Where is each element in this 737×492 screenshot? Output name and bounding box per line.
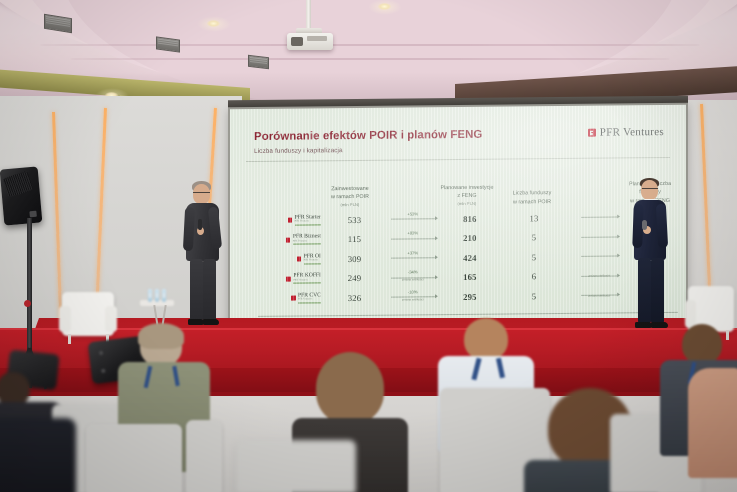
audience-chair: [86, 424, 182, 492]
comparison-table: Zainwestowane w ramach POIR (mln PLN) Pl…: [244, 165, 674, 327]
presenter-left-shoe: [188, 319, 204, 325]
header-planned-feng: Planowane inwestycje z FENG (mln PLN): [440, 184, 494, 209]
speaker-stand-pole: [27, 218, 32, 368]
cell-delta-capital: -34% zmiana wielkości: [382, 270, 443, 285]
pfr-square-mark-icon: [286, 277, 291, 282]
cell-funds-poir: 5: [497, 232, 572, 243]
cell-delta-funds: [571, 249, 626, 264]
pfr-square-mark-icon: [286, 238, 291, 243]
slide: Porównanie efektów POIR i planów FENG Li…: [230, 105, 686, 327]
projector-lens: [291, 37, 303, 46]
cell-delta-capital: +83%: [382, 231, 443, 246]
speaker-badge: [29, 211, 36, 218]
cell-delta-funds: [571, 210, 626, 225]
microphone: [198, 219, 202, 230]
cove-seam: [70, 58, 670, 60]
presenter-right-shoe: [651, 322, 668, 328]
cell-funds-poir: 5: [497, 291, 572, 302]
pfr-square-mark-icon: [291, 296, 296, 301]
cell-planned-feng: 816: [443, 213, 496, 224]
pa-speaker: [0, 166, 42, 225]
armchair-left: [62, 292, 114, 336]
audience-chair: [186, 420, 222, 492]
cell-delta-funds: zmiana wielkości: [571, 288, 626, 303]
presenter-left-leg: [190, 259, 203, 321]
projection-screen: Porównanie efektów POIR i planów FENG Li…: [230, 105, 686, 327]
cell-invested-poir: 249: [327, 273, 382, 284]
slide-title: Porównanie efektów POIR i planów FENG: [254, 129, 482, 143]
cell-delta-funds: [571, 230, 626, 245]
fund-logo: PFR StarterPFR Ventures: [244, 215, 327, 226]
ceiling-downlight: [207, 20, 220, 27]
glasses-icon: [193, 192, 210, 195]
cell-funds-poir: 5: [497, 252, 572, 263]
water-bottle: [148, 289, 152, 302]
fund-logo: PFR BiznestPFR Ventures: [244, 235, 327, 246]
armchair-leg: [68, 334, 71, 344]
ceiling-downlight: [378, 3, 391, 10]
table-header-row: Zainwestowane w ramach POIR (mln PLN) Pl…: [244, 165, 674, 211]
microphone: [642, 220, 647, 230]
ceiling-projector: [287, 33, 333, 50]
cell-invested-poir: 309: [327, 253, 382, 264]
armchair-leg: [726, 330, 729, 340]
presenter-right-shoe: [635, 322, 652, 328]
pfr-square-mark-icon: [288, 218, 293, 223]
presenter-left-leg: [203, 259, 216, 321]
cell-planned-feng: 165: [443, 272, 496, 283]
cell-funds-poir: 6: [497, 271, 572, 282]
pfr-square-mark-icon: [297, 257, 302, 262]
presenter-right-leg: [651, 258, 664, 324]
presenter-right-leg: [638, 258, 651, 324]
speaker-stand-knob: [24, 300, 31, 307]
pfr-ventures-wordmark: PFR Ventures: [600, 126, 664, 139]
cell-invested-poir: 533: [327, 214, 382, 225]
presenter-left-shoe: [203, 319, 219, 325]
cell-delta-funds: zmiana wielkości: [571, 269, 626, 284]
cove-seam: [40, 44, 700, 46]
cell-planned-feng: 295: [443, 291, 496, 302]
conference-photo-scene: Porównanie efektów POIR i planów FENG Li…: [0, 0, 737, 492]
cell-delta-capital: +53%: [382, 212, 443, 227]
water-bottle: [162, 289, 166, 302]
header-funds-poir: Liczba funduszy w ramach POIR: [494, 189, 570, 208]
cell-planned-feng: 424: [443, 252, 496, 263]
fund-logo: PFR KOFFIPFR Ventures: [244, 274, 327, 285]
glasses-icon: [642, 188, 658, 191]
cell-invested-poir: 326: [327, 292, 382, 303]
cell-delta-capital: -10% zmiana wielkości: [382, 290, 443, 305]
projector-vent: [307, 36, 327, 41]
cell-planned-feng: 210: [443, 233, 496, 244]
cell-delta-capital: +37%: [382, 251, 443, 266]
slide-divider: [246, 157, 670, 162]
cell-funds-poir: 13: [497, 213, 572, 224]
fund-logo: PFR OIPFR Ventures: [244, 254, 327, 265]
slide-subtitle: Liczba funduszy i kapitalizacja: [254, 147, 343, 155]
cell-invested-poir: 115: [327, 234, 382, 245]
fund-logo: PFR CVCPFR Ventures: [244, 293, 327, 304]
ceiling-vent: [248, 55, 269, 70]
pfr-ventures-logo: PFR Ventures: [588, 126, 664, 139]
header-invested-poir: Zainwestowane w ramach POIR (mln PLN): [322, 185, 378, 210]
audience-chair: [236, 440, 356, 492]
speaker-grille: [2, 171, 33, 198]
water-bottle: [155, 289, 159, 302]
pfr-square-mark-icon: [588, 129, 596, 137]
